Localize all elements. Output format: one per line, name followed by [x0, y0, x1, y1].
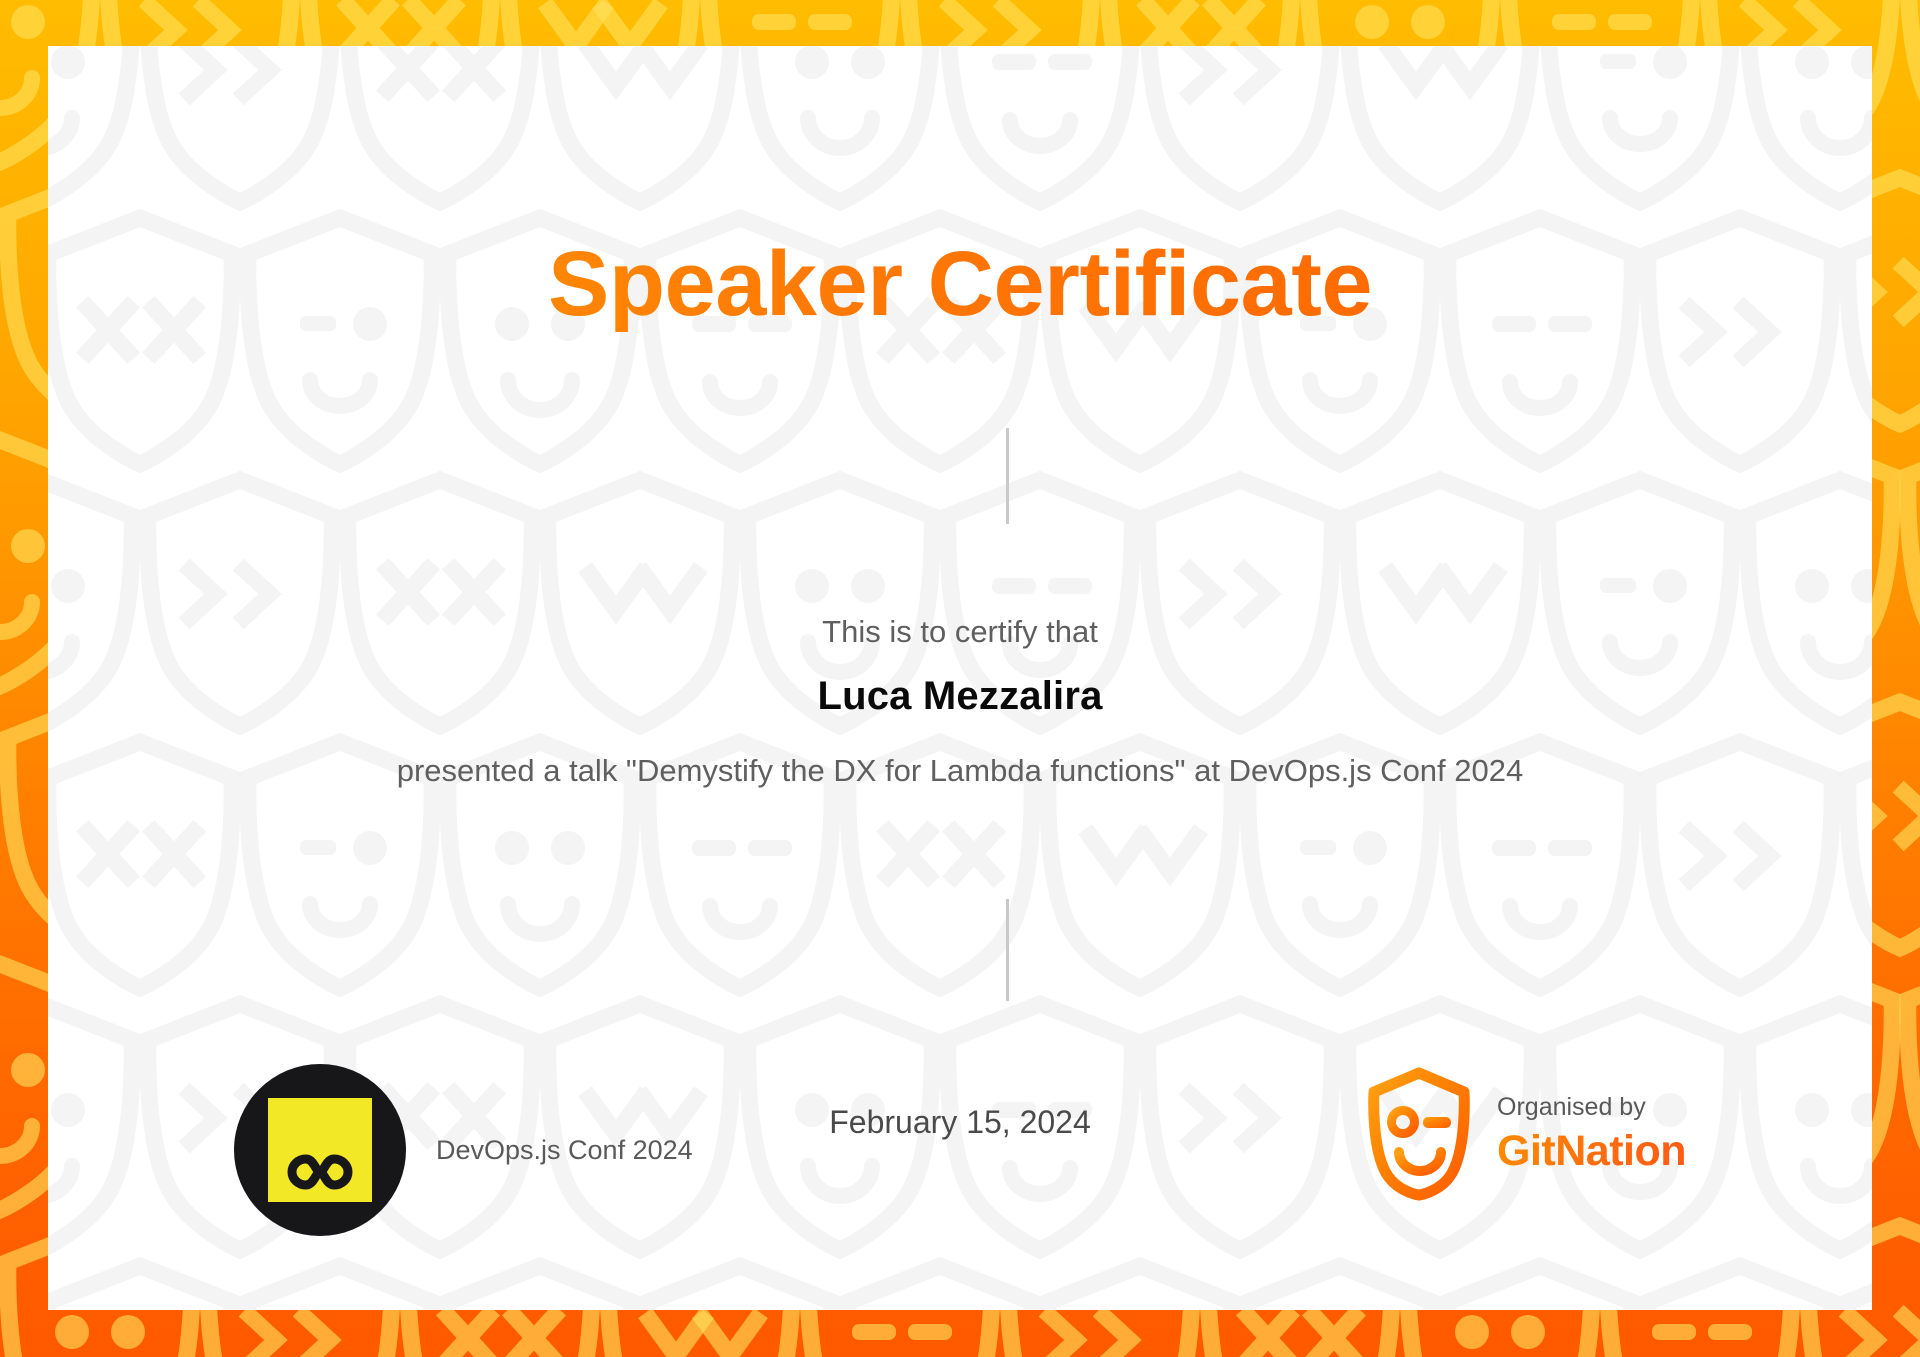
divider-bottom	[1006, 899, 1009, 1001]
recipient-name: Luca Mezzalira	[48, 674, 1872, 719]
talk-statement: presented a talk "Demystify the DX for L…	[48, 753, 1872, 789]
organised-by-label: Organised by	[1497, 1095, 1686, 1120]
organiser-text: Organised by GitNation	[1497, 1095, 1686, 1173]
gitnation-shield-face-icon	[1363, 1066, 1475, 1202]
certificate: Speaker Certificate This is to certify t…	[0, 0, 1920, 1357]
page-title: Speaker Certificate	[48, 236, 1872, 333]
organiser-block: Organised by GitNation	[1363, 1066, 1686, 1202]
devops-js-logo	[234, 1064, 406, 1236]
infinity-icon	[283, 1151, 357, 1193]
certificate-card: Speaker Certificate This is to certify t…	[48, 46, 1872, 1310]
divider-top	[1006, 428, 1009, 524]
certify-statement: This is to certify that	[48, 614, 1872, 650]
event-block: DevOps.js Conf 2024	[234, 1064, 693, 1236]
organiser-brand-name: GitNation	[1497, 1130, 1686, 1173]
